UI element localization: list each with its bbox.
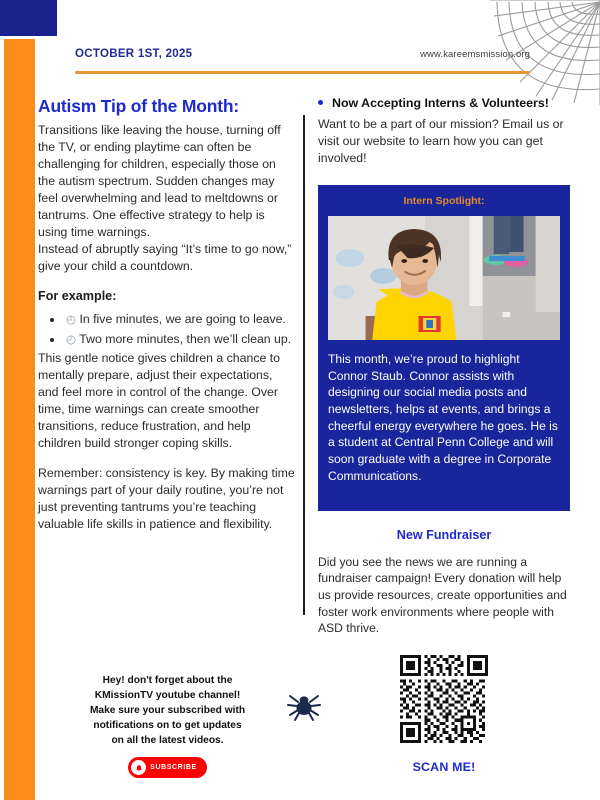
- content-columns: Autism Tip of the Month: Transitions lik…: [0, 96, 600, 800]
- list-item-label: In five minutes, we are going to leave.: [79, 312, 285, 326]
- list-item-label: Two more minutes, then we’ll clean up.: [79, 332, 291, 346]
- qr-code-icon[interactable]: [400, 655, 488, 743]
- tip-paragraph-3: This gentle notice gives children a chan…: [38, 350, 296, 452]
- bullet-dot-icon: [318, 100, 323, 105]
- example-subheading: For example:: [38, 289, 296, 303]
- tip-paragraph-1: Transitions like leaving the house, turn…: [38, 122, 296, 241]
- youtube-promo-line-4: notifications on to get updates: [45, 719, 290, 734]
- subscribe-button[interactable]: SUBSCRIBE: [128, 757, 207, 778]
- right-column: Now Accepting Interns & Volunteers! Want…: [318, 96, 570, 774]
- youtube-promo: Hey! don't forget about the KMissionTV y…: [45, 674, 290, 778]
- intern-spotlight-card: Intern Spotlight:: [318, 185, 570, 511]
- bell-icon: [131, 760, 146, 775]
- issue-date: OCTOBER 1ST, 2025: [75, 48, 192, 60]
- page-title: Autism Tip of the Month:: [38, 96, 296, 117]
- column-divider: [303, 115, 305, 615]
- youtube-promo-line-3: Make sure your subscribed with: [45, 704, 290, 719]
- interns-heading: Now Accepting Interns & Volunteers!: [318, 96, 570, 110]
- interns-paragraph: Want to be a part of our mission? Email …: [318, 116, 570, 167]
- website-url[interactable]: www.kareemsmission.org: [420, 49, 530, 60]
- left-column: Autism Tip of the Month: Transitions lik…: [38, 96, 296, 533]
- subscribe-button-label: SUBSCRIBE: [150, 764, 197, 771]
- list-item: ◴ In five minutes, we are going to leave…: [64, 311, 296, 329]
- fundraiser-heading: New Fundraiser: [318, 528, 570, 542]
- fundraiser-paragraph: Did you see the news we are running a fu…: [318, 554, 570, 637]
- clock-icon: ◴: [66, 334, 76, 346]
- youtube-promo-line-2: KMissionTV youtube channel!: [45, 689, 290, 704]
- newsletter-header: OCTOBER 1ST, 2025 www.kareemsmission.org: [75, 48, 530, 74]
- tip-paragraph-4: Remember: consistency is key. By making …: [38, 465, 296, 533]
- spotlight-label: Intern Spotlight:: [328, 195, 560, 207]
- example-list: ◴ In five minutes, we are going to leave…: [38, 311, 296, 349]
- interns-heading-label: Now Accepting Interns & Volunteers!: [332, 96, 549, 110]
- youtube-promo-line-5: on all the latest videos.: [45, 734, 290, 749]
- youtube-promo-line-1: Hey! don't forget about the: [45, 674, 290, 689]
- newsletter-page: OCTOBER 1ST, 2025 www.kareemsmission.org: [0, 0, 600, 800]
- header-divider-rule: [75, 71, 530, 74]
- scan-me-label: SCAN ME!: [318, 760, 570, 774]
- qr-section: SCAN ME!: [318, 655, 570, 774]
- navy-corner-block: [0, 0, 57, 36]
- clock-icon: ◴: [66, 314, 76, 326]
- list-item: ◴ Two more minutes, then we’ll clean up.: [64, 331, 296, 349]
- intern-photo: [328, 216, 560, 340]
- tip-paragraph-2: Instead of abruptly saying “It’s time to…: [38, 241, 296, 275]
- spotlight-paragraph: This month, we’re proud to highlight Con…: [328, 351, 560, 485]
